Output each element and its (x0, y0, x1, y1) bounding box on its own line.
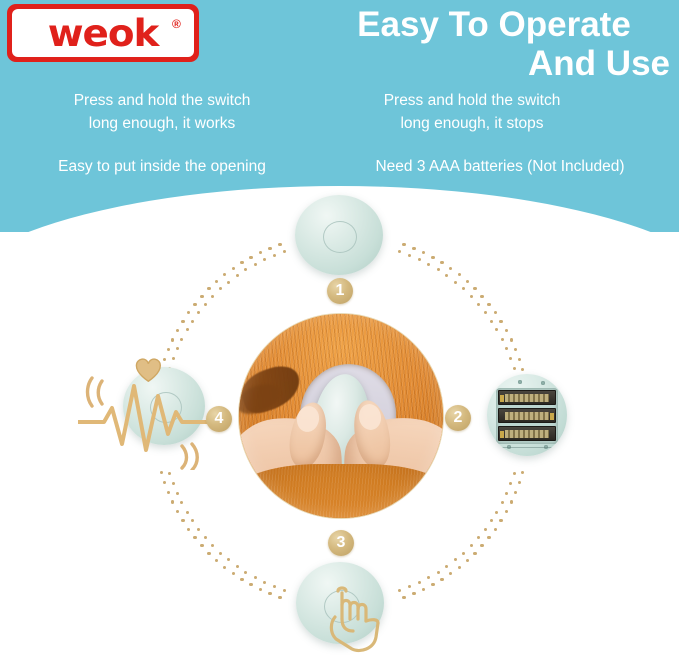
ring-dot (505, 329, 508, 332)
ring-dot (518, 481, 521, 484)
ring-dot (487, 303, 490, 306)
ring-dot (431, 583, 434, 586)
ring-dot (402, 596, 405, 599)
device-icon-step4 (123, 367, 205, 445)
ring-dot (232, 267, 235, 270)
ring-dot (223, 566, 226, 569)
infographic-page: weok ® Easy To Operate And Use Press and… (0, 0, 679, 655)
ring-dot (495, 511, 498, 514)
headline-line-1: Easy To Operate (318, 6, 670, 44)
ring-dot (484, 311, 487, 314)
ring-dot (207, 287, 210, 290)
battery-terminal (550, 413, 554, 420)
battery-terminal (500, 431, 504, 438)
ring-dot (273, 254, 276, 257)
ring-dot (193, 303, 196, 306)
ring-dot (466, 559, 469, 562)
device-icon-step3 (296, 562, 384, 644)
ring-dot (171, 338, 174, 341)
headline-line-2: And Use (318, 45, 670, 83)
ring-dot (437, 268, 440, 271)
ring-dot (240, 578, 243, 581)
ring-dot (454, 281, 457, 284)
step-badge-1: 1 (327, 278, 353, 304)
ring-dot (268, 592, 271, 595)
ring-dot (505, 492, 508, 495)
ring-dot (437, 571, 440, 574)
ring-dot (278, 243, 281, 246)
ring-dot (422, 251, 425, 254)
device-switch-icon (323, 221, 357, 253)
ring-dot (487, 536, 490, 539)
ring-dot (167, 348, 170, 351)
ring-dot (499, 320, 502, 323)
battery-3 (498, 426, 556, 441)
ring-dot (268, 247, 271, 250)
step-badge-4: 4 (206, 406, 232, 432)
ring-dot (215, 559, 218, 562)
ring-dot (466, 280, 469, 283)
ring-dot (477, 536, 480, 539)
ring-dot (215, 280, 218, 283)
ring-dot (518, 358, 521, 361)
ring-dot (494, 528, 497, 531)
battery-label (505, 412, 549, 420)
ring-dot (249, 256, 252, 259)
ring-dot (187, 528, 190, 531)
ring-dot (418, 581, 421, 584)
ring-dot (440, 261, 443, 264)
ring-dot (418, 258, 421, 261)
ring-dot (283, 589, 286, 592)
ring-dot (191, 519, 194, 522)
step-badge-2: 2 (445, 405, 471, 431)
ring-dot (494, 311, 497, 314)
ring-dot (204, 536, 207, 539)
ring-dot (207, 552, 210, 555)
note-left-top-line2: long enough, it works (12, 112, 312, 135)
ring-dot (176, 347, 179, 350)
ring-dot (171, 500, 174, 503)
ring-dot (501, 501, 504, 504)
step-badge-3: 3 (328, 530, 354, 556)
ring-dot (408, 254, 411, 257)
ring-dot (412, 592, 415, 595)
ring-dot (172, 357, 175, 360)
note-left-top-line1: Press and hold the switch (12, 89, 312, 112)
ring-dot (477, 303, 480, 306)
ring-dot (168, 472, 171, 475)
ring-dot (427, 576, 430, 579)
insert-device-photo (238, 313, 444, 519)
ring-dot (160, 471, 163, 474)
ring-dot (408, 585, 411, 588)
photo-vignette (239, 314, 443, 518)
ring-dot (499, 519, 502, 522)
ring-dot (510, 338, 513, 341)
note-left-top: Press and hold the switch long enough, i… (12, 89, 312, 135)
device-switch-icon (150, 392, 182, 423)
ring-dot (259, 251, 262, 254)
note-right-top-line2: long enough, it stops (322, 112, 622, 135)
ring-dot (187, 311, 190, 314)
ring-dot (200, 295, 203, 298)
note-right-bottom: Need 3 AAA batteries (Not Included) (326, 155, 674, 178)
ring-dot (263, 581, 266, 584)
ring-dot (240, 261, 243, 264)
ring-dot (211, 295, 214, 298)
ring-dot (509, 482, 512, 485)
battery-well (496, 388, 558, 444)
ring-dot (470, 544, 473, 547)
ring-dot (219, 287, 222, 290)
ring-dot (244, 571, 247, 574)
ring-dot (197, 528, 200, 531)
ring-dot (514, 491, 517, 494)
ring-dot (470, 295, 473, 298)
ring-dot (445, 274, 448, 277)
ring-dot (223, 273, 226, 276)
ring-dot (254, 263, 257, 266)
ring-dot (484, 528, 487, 531)
ring-dot (176, 329, 179, 332)
ring-dot (513, 367, 516, 370)
brand-logo-text: weok (7, 9, 198, 57)
ring-dot (163, 358, 166, 361)
ring-dot (473, 287, 476, 290)
ring-dot (176, 510, 179, 513)
device-icon-step1 (295, 195, 383, 275)
ring-dot (521, 368, 524, 371)
ring-dot (219, 552, 222, 555)
ring-dot (422, 588, 425, 591)
ring-dot (412, 247, 415, 250)
ring-dot (445, 565, 448, 568)
ring-dot (440, 578, 443, 581)
battery-lid-seam (495, 447, 559, 448)
ring-dot (505, 347, 508, 350)
registered-trademark-icon: ® (172, 17, 181, 31)
ring-dot (513, 472, 516, 475)
ring-dot (490, 519, 493, 522)
ring-dot (278, 596, 281, 599)
screw-icon (541, 381, 545, 385)
ring-dot (176, 492, 179, 495)
ring-dot (193, 536, 196, 539)
ring-dot (181, 320, 184, 323)
ring-dot (427, 263, 430, 266)
ring-dot (402, 243, 405, 246)
brand-logo-plate: weok ® (12, 9, 194, 57)
ring-dot (454, 558, 457, 561)
ring-dot (480, 295, 483, 298)
ring-dot (510, 500, 513, 503)
ring-dot (514, 348, 517, 351)
ring-dot (501, 338, 504, 341)
ring-dot (197, 311, 200, 314)
screw-icon (518, 380, 522, 384)
ring-dot (398, 250, 401, 253)
note-right-top-line1: Press and hold the switch (322, 89, 622, 112)
ring-dot (458, 273, 461, 276)
ring-dot (204, 303, 207, 306)
ring-dot (263, 258, 266, 261)
ring-dot (180, 338, 183, 341)
ring-dot (186, 328, 189, 331)
ring-dot (449, 267, 452, 270)
ring-dot (254, 576, 257, 579)
ring-dot (163, 481, 166, 484)
ring-dot (236, 565, 239, 568)
ring-dot (249, 583, 252, 586)
ring-dot (449, 572, 452, 575)
ring-dot (431, 256, 434, 259)
ring-dot (172, 482, 175, 485)
ring-dot (244, 268, 247, 271)
note-left-bottom: Easy to put inside the opening (12, 155, 312, 178)
ring-dot (167, 491, 170, 494)
ring-dot (232, 572, 235, 575)
ring-dot (480, 544, 483, 547)
ring-dot (227, 558, 230, 561)
note-right-top: Press and hold the switch long enough, i… (322, 89, 622, 135)
ring-dot (200, 544, 203, 547)
ring-dot (186, 511, 189, 514)
battery-2 (498, 408, 556, 423)
ring-dot (227, 281, 230, 284)
ring-dot (521, 471, 524, 474)
ring-dot (180, 501, 183, 504)
vibration-arc-left (88, 378, 103, 406)
ring-dot (495, 328, 498, 331)
ring-dot (505, 510, 508, 513)
battery-1 (498, 390, 556, 405)
battery-label (505, 394, 549, 402)
ring-dot (398, 589, 401, 592)
ring-dot (273, 585, 276, 588)
ring-dot (259, 588, 262, 591)
ring-dot (473, 552, 476, 555)
ring-dot (236, 274, 239, 277)
brand-logo: weok ® (7, 4, 199, 62)
battery-compartment-icon (487, 374, 567, 456)
battery-terminal (500, 395, 504, 402)
ring-dot (458, 566, 461, 569)
battery-label (505, 430, 549, 438)
ring-dot (509, 357, 512, 360)
device-switch-icon (324, 590, 360, 623)
ring-dot (191, 320, 194, 323)
ring-dot (490, 320, 493, 323)
ring-dot (283, 250, 286, 253)
ring-dot (181, 519, 184, 522)
ring-dot (462, 287, 465, 290)
ring-dot (462, 552, 465, 555)
ring-dot (211, 544, 214, 547)
